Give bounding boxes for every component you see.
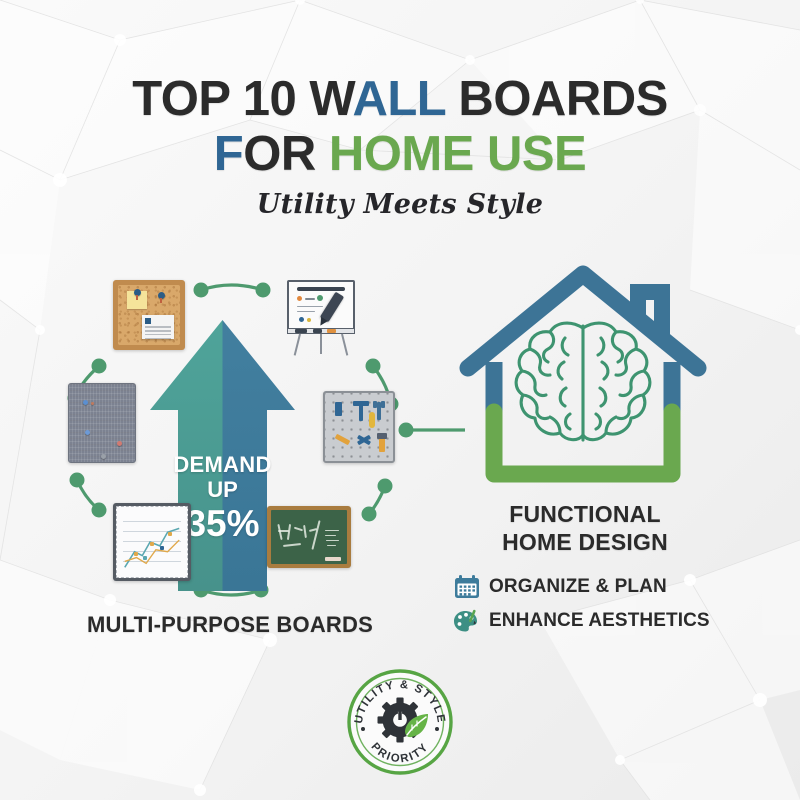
title-seg-6: HOME USE: [329, 127, 586, 181]
title-seg-5: OR: [243, 127, 329, 181]
title-line-2: FOR HOME USE: [0, 127, 800, 182]
board-green-chalkboard[interactable]: [267, 506, 351, 568]
board-chart-graph[interactable]: [113, 503, 191, 581]
multi-purpose-boards-diagram: DEMAND UP 35%: [55, 258, 465, 618]
benefit-label: ENHANCE AESTHETICS: [489, 610, 710, 632]
palette-icon: [452, 608, 482, 634]
list-item[interactable]: ORGANIZE & PLAN: [452, 570, 752, 604]
right-heading-line2: HOME DESIGN: [435, 528, 735, 556]
title-seg-2: ALL: [352, 72, 445, 126]
right-section-heading: FUNCTIONAL HOME DESIGN: [435, 500, 735, 556]
right-heading-line1: FUNCTIONAL: [435, 500, 735, 528]
benefit-label: ORGANIZE & PLAN: [489, 576, 667, 598]
utility-style-priority-badge: UTILITY & STYLE PRIORITY: [343, 665, 457, 779]
board-felt-fabric[interactable]: [68, 383, 136, 463]
calendar-icon: [452, 574, 482, 600]
benefits-list: ORGANIZE & PLAN ENHANCE AESTHETICS: [452, 570, 752, 638]
infographic-canvas: TOP 10 WALL BOARDS FOR HOME USE Utility …: [0, 0, 800, 800]
board-whiteboard-easel[interactable]: [283, 278, 359, 356]
list-item[interactable]: ENHANCE AESTHETICS: [452, 604, 752, 638]
board-cork-bulletin[interactable]: [113, 280, 185, 350]
board-tool-pegboard[interactable]: [323, 391, 395, 463]
title-seg-1: TOP 10 W: [132, 72, 352, 126]
title-seg-3: BOARDS: [445, 72, 667, 126]
house-brain-icon: [452, 262, 714, 494]
title-line-1: TOP 10 WALL BOARDS: [0, 72, 800, 127]
title-block: TOP 10 WALL BOARDS FOR HOME USE Utility …: [0, 72, 800, 220]
subtitle: Utility Meets Style: [0, 189, 800, 220]
title-seg-4: F: [214, 127, 243, 181]
left-section-caption: MULTI-PURPOSE BOARDS: [30, 612, 430, 638]
